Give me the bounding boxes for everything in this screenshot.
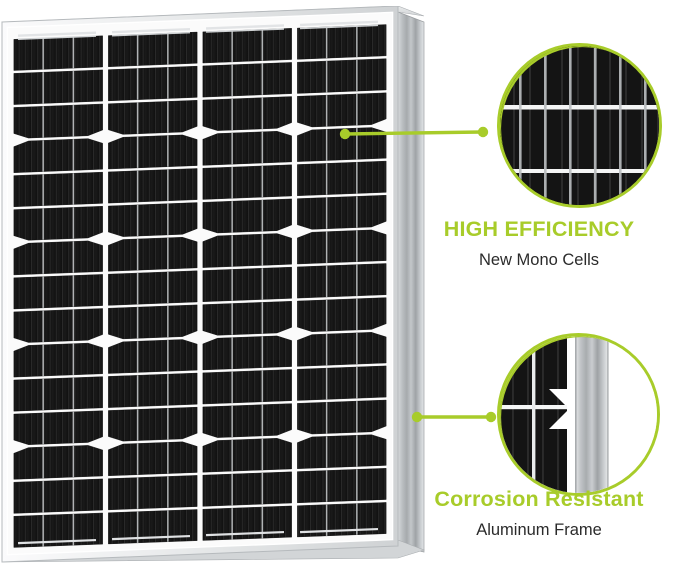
solar-cell (203, 131, 292, 165)
leader-line-corrosion-resistant (405, 402, 510, 434)
magnified-aluminum-frame (497, 333, 660, 496)
solar-cell (14, 36, 103, 71)
solar-cell (203, 28, 292, 63)
solar-cell (108, 442, 197, 476)
solar-cell (297, 400, 386, 434)
callout-subtitle-corrosion-resistant: Aluminum Frame (404, 521, 674, 539)
caption-corrosion-resistant: Corrosion Resistant Aluminum Frame (404, 488, 674, 539)
solar-cell (203, 438, 292, 472)
callout-title-high-efficiency: HIGH EFFICIENCY (404, 218, 674, 242)
solar-cell (108, 407, 197, 441)
solar-cell (14, 241, 103, 275)
solar-cell (297, 298, 386, 332)
magnifier-corrosion-resistant (497, 333, 660, 496)
leader-line-high-efficiency (330, 118, 500, 152)
solar-cell (108, 100, 197, 134)
solar-cell (297, 366, 386, 401)
solar-cell (108, 237, 197, 271)
solar-cell (203, 267, 292, 302)
solar-cell (297, 59, 386, 94)
solar-cell (108, 271, 197, 306)
solar-cell (203, 369, 292, 404)
solar-cell (203, 472, 292, 507)
solar-cell (297, 263, 386, 298)
solar-cell (14, 274, 103, 309)
callout-subtitle-high-efficiency: New Mono Cells (404, 251, 674, 269)
solar-cell (203, 199, 292, 233)
panel-side-edge (398, 12, 424, 552)
solar-panel-graphic (0, 6, 440, 564)
magnified-solar-cells (497, 43, 662, 208)
solar-cell (108, 340, 197, 374)
solar-cell (14, 308, 103, 342)
solar-cell (108, 475, 197, 510)
solar-cell (203, 62, 292, 97)
solar-cell (203, 97, 292, 131)
solar-cell (14, 70, 103, 105)
solar-cell (108, 305, 197, 339)
solar-cell (14, 104, 103, 138)
infographic-canvas: HIGH EFFICIENCY New Mono Cells (0, 0, 679, 564)
solar-cell (108, 203, 197, 237)
caption-high-efficiency: HIGH EFFICIENCY New Mono Cells (404, 218, 674, 269)
solar-cell (108, 66, 197, 101)
solar-cell (203, 165, 292, 200)
solar-cell (297, 195, 386, 229)
solar-cell (297, 468, 386, 503)
solar-cell (203, 234, 292, 268)
solar-cell (297, 161, 386, 196)
solar-cell (108, 135, 197, 169)
solar-cell (14, 377, 103, 412)
solar-cell (14, 445, 103, 479)
solar-cell (14, 411, 103, 445)
solar-cell (203, 336, 292, 370)
solar-panel-illustration (0, 6, 440, 564)
solar-cell (203, 301, 292, 335)
solar-cell (297, 435, 386, 469)
solar-cell (14, 343, 103, 377)
solar-cell (108, 32, 197, 67)
solar-cell (14, 479, 103, 514)
solar-cell (203, 404, 292, 438)
callout-title-corrosion-resistant: Corrosion Resistant (404, 488, 674, 512)
solar-cell (108, 168, 197, 203)
solar-cell (14, 139, 103, 173)
solar-cell (297, 230, 386, 264)
solar-cell (14, 172, 103, 207)
solar-cell (297, 332, 386, 366)
magnifier-high-efficiency (497, 43, 662, 208)
solar-cell (297, 25, 386, 60)
solar-cell (108, 373, 197, 408)
solar-cell (14, 206, 103, 240)
